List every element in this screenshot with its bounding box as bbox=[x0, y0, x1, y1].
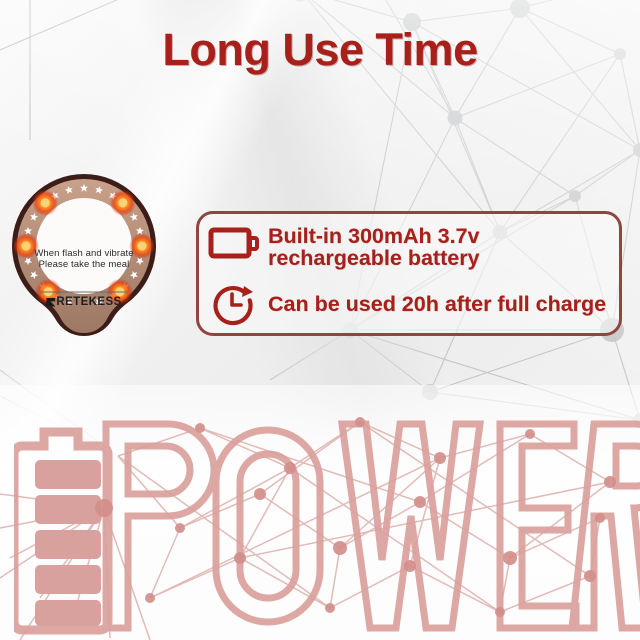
retekess-brand-logo: RETEKESS bbox=[8, 296, 160, 308]
feature-text-battery: Built-in 300mAh 3.7v rechargeable batter… bbox=[268, 225, 616, 269]
feature-text-runtime: Can be used 20h after full charge bbox=[268, 293, 606, 315]
feature-row-battery: Built-in 300mAh 3.7v rechargeable batter… bbox=[208, 224, 616, 269]
pager-screen-line-2: Please take the meal bbox=[8, 259, 160, 270]
feature-info-box: Built-in 300mAh 3.7v rechargeable batter… bbox=[196, 211, 622, 336]
feature-row-runtime: Can be used 20h after full charge bbox=[208, 282, 616, 331]
retekess-mark-icon bbox=[46, 298, 55, 307]
battery-icon bbox=[208, 224, 260, 267]
pager-screen-line-1: When flash and vibrate bbox=[8, 248, 160, 259]
watermark-network-overlay bbox=[0, 398, 640, 640]
page-title: Long Use Time bbox=[0, 24, 640, 76]
clock-refresh-icon bbox=[208, 282, 260, 331]
power-watermark bbox=[0, 398, 640, 640]
retekess-brand-text: RETEKESS bbox=[56, 296, 121, 308]
coaster-pager-device: When flash and vibrate Please take the m… bbox=[8, 170, 160, 362]
